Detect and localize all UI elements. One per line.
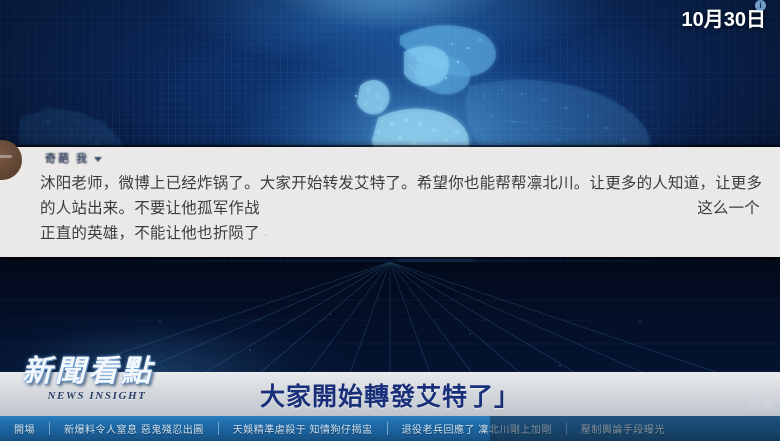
- program-name-cn: 新聞看點: [22, 355, 202, 389]
- post-username: 奇葩 我: [45, 150, 89, 166]
- post-username-row[interactable]: 奇葩 我: [45, 150, 102, 166]
- ticker-item-2[interactable]: 天娛精準虐殺于 知情狗仔揭盅: [219, 421, 387, 436]
- info-icon: i: [755, 0, 766, 11]
- channel-watermark: 點 我 訂 閱: [748, 386, 774, 412]
- program-name-en: NEWS INSIGHT: [22, 390, 172, 402]
- post-line-2-text: 的人站出来。不要让他孤军作战: [40, 196, 260, 221]
- watermark-char-3: 訂: [748, 400, 761, 413]
- overlay-bottom-seam: [0, 257, 780, 259]
- social-post-overlay: 奇葩 我 沐阳老师，微博上已经炸锅了。大家开始转发艾特了。希望你也能帮帮凛北川。…: [0, 147, 780, 257]
- post-line-3-tail: ·: [264, 230, 268, 241]
- post-body: 沐阳老师，微博上已经炸锅了。大家开始转发艾特了。希望你也能帮帮凛北川。让更多的人…: [40, 171, 770, 248]
- ticker-item-1[interactable]: 新爆料令人窒息 惡鬼殘忍出圖: [50, 421, 218, 436]
- date-text: 10月30日: [682, 8, 767, 32]
- watermark-char-4: 閱: [762, 400, 775, 413]
- avatar-redaction-bar: [0, 155, 12, 158]
- watermark-char-2: 我: [762, 386, 775, 399]
- watermark-char-1: 點: [748, 386, 761, 399]
- program-logo: 新聞看點 NEWS INSIGHT: [22, 355, 202, 413]
- news-ticker: 開場 新爆料令人窒息 惡鬼殘忍出圖 天娛精準虐殺于 知情狗仔揭盅 退役老兵回應了…: [0, 416, 780, 441]
- post-line-2: 的人站出来。不要让他孤军作战 这么一个: [40, 196, 760, 221]
- broadcast-screenshot: i 10月30日: [0, 0, 780, 441]
- post-line-3: 正直的英雄，不能让他也折陨了·: [40, 221, 770, 248]
- ticker-item-0[interactable]: 開場: [0, 421, 49, 436]
- post-line-2-right: 这么一个: [697, 196, 760, 221]
- post-line-1: 沐阳老师，微博上已经炸锅了。大家开始转发艾特了。希望你也能帮帮凛北川。让更多的人…: [40, 171, 770, 196]
- ticker-item-3[interactable]: 退役老兵回應了 凜北川剛上加剛: [388, 421, 566, 436]
- chevron-down-icon[interactable]: [94, 157, 102, 162]
- broadcast-date: i 10月30日: [682, 8, 767, 32]
- post-line-3-text: 正直的英雄，不能让他也折陨了: [40, 225, 260, 242]
- ticker-item-4[interactable]: 壓制輿論手段曝光: [567, 421, 679, 436]
